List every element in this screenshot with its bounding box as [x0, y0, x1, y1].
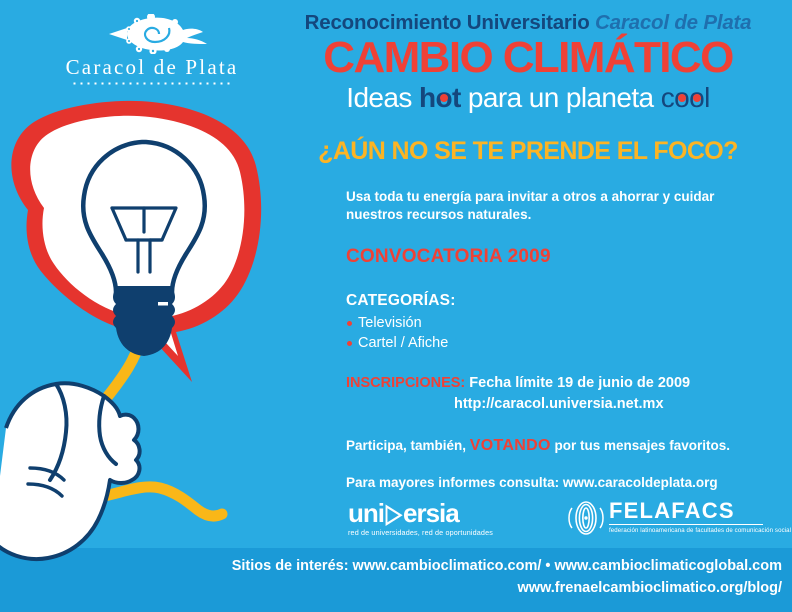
- felafacs-rule: [609, 524, 763, 525]
- universia-chevron-icon: ▷: [386, 500, 401, 526]
- headline-block: Reconocimiento Universitario Caracol de …: [270, 12, 786, 112]
- brand-logo: Caracol de Plata: [52, 14, 252, 85]
- inscripciones-value: Fecha límite 19 de junio de 2009: [465, 375, 690, 391]
- subtitle-line: Ideas hot para un planeta cool: [270, 83, 786, 112]
- felafacs-text-block: FELAFACS federación latinoamericana de f…: [609, 500, 791, 534]
- conch-shell-icon: [93, 14, 211, 54]
- categories-heading: CATEGORÍAS:: [346, 292, 766, 310]
- poster-artwork: [0, 96, 300, 576]
- kicker-italic: Caracol de Plata: [595, 11, 751, 34]
- lede-paragraph: Usa toda tu energía para invitar a otros…: [346, 188, 750, 224]
- felafacs-tagline: federación latinoamericana de facultades…: [609, 527, 791, 534]
- list-item: Cartel / Afiche: [346, 333, 766, 353]
- question-headline: ¿AÚN NO SE TE PRENDE EL FOCO?: [270, 137, 786, 166]
- word-cool: cool: [661, 82, 710, 113]
- categories-list: Televisión Cartel / Afiche: [346, 313, 766, 353]
- brand-name: Caracol de Plata: [52, 56, 252, 78]
- participa-part-1: Participa, también,: [346, 438, 470, 453]
- footer-line-1[interactable]: Sitios de interés: www.cambioclimatico.c…: [150, 556, 782, 578]
- subtitle-part-2: para un planeta: [461, 82, 661, 113]
- participa-line: Participa, también, VOTANDO por tus mens…: [346, 437, 766, 455]
- universia-word-start: uni: [348, 498, 384, 528]
- kicker-line: Reconocimiento Universitario Caracol de …: [270, 12, 786, 35]
- universia-tagline: red de universidades, red de oportunidad…: [348, 528, 493, 537]
- word-hot: hot: [419, 82, 461, 113]
- felafacs-wordmark: FELAFACS: [609, 500, 791, 522]
- universia-word-end: ersia: [403, 498, 459, 528]
- sponsor-felafacs[interactable]: FELAFACS federación latinoamericana de f…: [568, 500, 791, 535]
- radiating-waves-icon: [568, 501, 604, 535]
- universia-wordmark: uni▷ersia: [348, 500, 493, 526]
- list-item: Televisión: [346, 313, 766, 333]
- brand-dotted-rule: [71, 82, 233, 85]
- body-column: Usa toda tu energía para invitar a otros…: [346, 188, 766, 490]
- kicker-plain: Reconocimiento Universitario: [305, 11, 595, 34]
- hand-icon: [0, 383, 140, 559]
- page-title: CAMBIO CLIMÁTICO: [270, 36, 786, 80]
- inscripciones-block: INSCRIPCIONES: Fecha límite 19 de junio …: [346, 373, 766, 415]
- subtitle-part-1: Ideas: [346, 82, 419, 113]
- inscripciones-url[interactable]: http://caracol.universia.net.mx: [346, 394, 766, 415]
- footer-links: Sitios de interés: www.cambioclimatico.c…: [150, 556, 782, 600]
- convocatoria-heading: CONVOCATORIA 2009: [346, 246, 766, 268]
- participa-part-2: por tus mensajes favoritos.: [551, 438, 730, 453]
- sponsor-universia[interactable]: uni▷ersia red de universidades, red de o…: [348, 500, 493, 537]
- footer-line-2[interactable]: www.frenaelcambioclimatico.org/blog/: [150, 578, 782, 600]
- votando-word: VOTANDO: [470, 437, 551, 454]
- informes-line[interactable]: Para mayores informes consulta: www.cara…: [346, 475, 766, 490]
- inscripciones-label: INSCRIPCIONES:: [346, 375, 465, 391]
- poster-canvas: Caracol de Plata Reconocimiento Universi…: [0, 0, 792, 612]
